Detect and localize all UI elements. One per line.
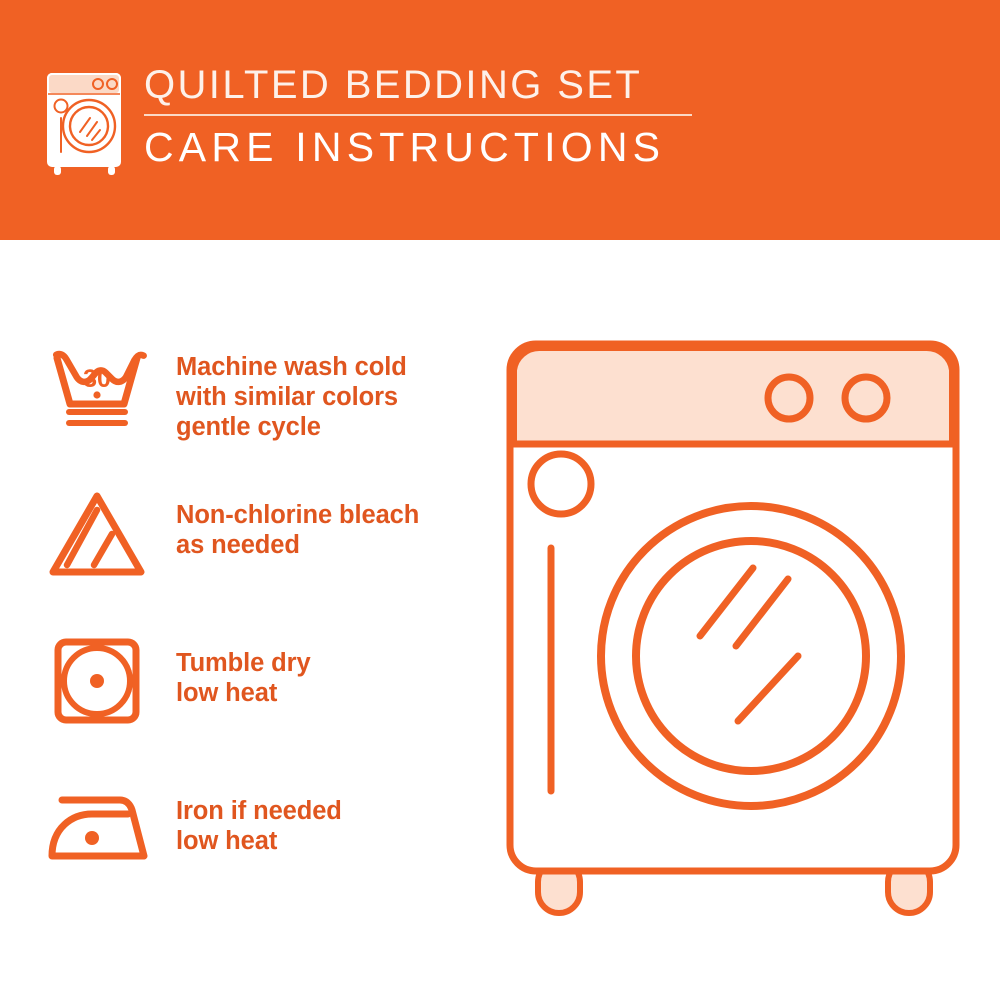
page-subtitle: CARE INSTRUCTIONS xyxy=(144,124,692,170)
tumble-dry-low-icon xyxy=(46,634,148,730)
washing-machine-icon xyxy=(42,68,130,178)
care-row-machine-wash: 30 Machine wash cold with similar colors… xyxy=(46,330,486,478)
care-row-iron: Iron if needed low heat xyxy=(46,774,486,922)
care-label-bleach: Non-chlorine bleach as needed xyxy=(176,478,419,560)
header-titles: QUILTED BEDDING SET CARE INSTRUCTIONS xyxy=(144,62,692,170)
non-chlorine-bleach-triangle-icon xyxy=(46,486,148,582)
page-title: QUILTED BEDDING SET xyxy=(144,62,692,108)
care-instructions-page: QUILTED BEDDING SET CARE INSTRUCTIONS 30 xyxy=(0,0,1000,1000)
care-label-iron: Iron if needed low heat xyxy=(176,774,342,856)
machine-knob-2[interactable] xyxy=(845,377,887,419)
header-content: QUILTED BEDDING SET CARE INSTRUCTIONS xyxy=(42,62,692,178)
iron-low-heat-icon xyxy=(46,782,154,872)
care-icon-slot: 30 xyxy=(46,330,176,434)
care-icon-slot xyxy=(46,478,176,582)
machine-knob-1[interactable] xyxy=(768,377,810,419)
wash-tub-30-icon: 30 xyxy=(46,338,148,434)
care-label-machine-wash: Machine wash cold with similar colors ge… xyxy=(176,330,407,442)
large-washing-machine-illustration xyxy=(498,336,968,926)
care-label-tumble-dry: Tumble dry low heat xyxy=(176,626,311,708)
care-instruction-list: 30 Machine wash cold with similar colors… xyxy=(46,330,486,922)
title-divider xyxy=(144,114,692,116)
care-icon-slot xyxy=(46,774,176,872)
care-row-bleach: Non-chlorine bleach as needed xyxy=(46,478,486,626)
care-icon-slot xyxy=(46,626,176,730)
header-banner: QUILTED BEDDING SET CARE INSTRUCTIONS xyxy=(0,0,1000,240)
wash-temperature-value: 30 xyxy=(83,365,111,393)
care-row-tumble-dry: Tumble dry low heat xyxy=(46,626,486,774)
